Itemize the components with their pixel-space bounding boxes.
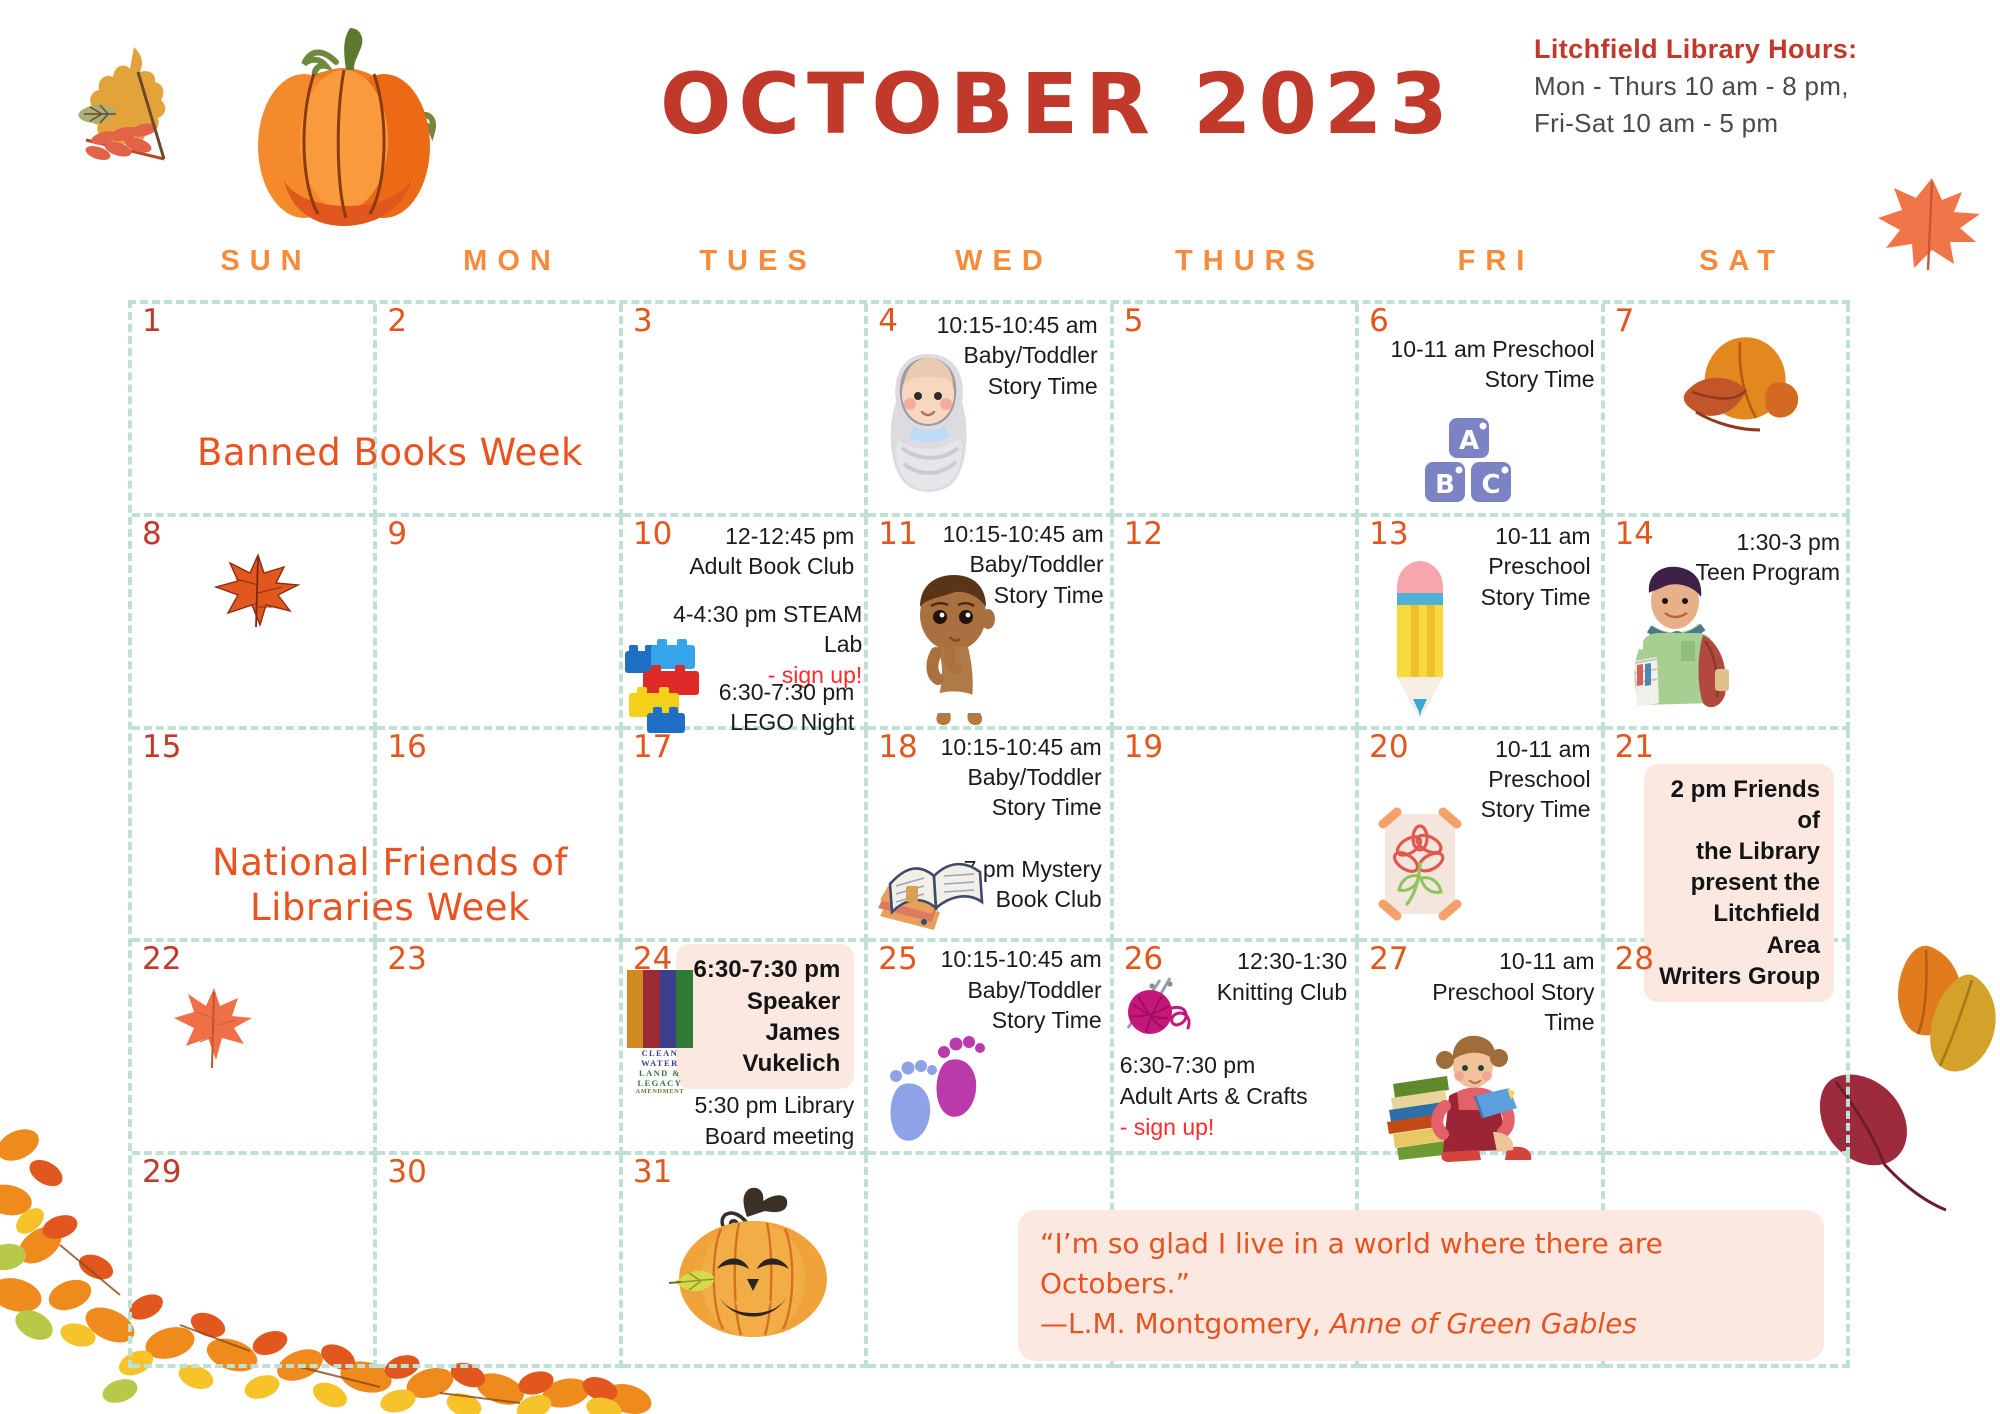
quote-author: —L.M. Montgomery, <box>1040 1307 1330 1340</box>
sign-up-link[interactable]: - sign up! <box>1120 1114 1215 1140</box>
day-number: 28 <box>1615 944 1654 975</box>
page-title: OCTOBER 2023 <box>660 55 1420 153</box>
quote-book-title: Anne of Green Gables <box>1330 1307 1637 1340</box>
library-hours-line-1: Mon - Thurs 10 am - 8 pm, <box>1534 68 1954 105</box>
day-cell-15[interactable]: 15 <box>132 730 377 943</box>
big-pumpkin-icon <box>218 14 468 234</box>
event-line: 10:15-10:45 am <box>903 310 1098 340</box>
day-cell-4[interactable]: 4 10:15-10:45 am Baby/Toddler Story Time <box>868 304 1113 517</box>
day-number: 3 <box>633 306 653 337</box>
baby-footprints-icon <box>886 1036 996 1154</box>
day-cell-23[interactable]: 23 <box>377 942 622 1155</box>
autumn-leaf-icon <box>1660 330 1810 450</box>
day-cell-3[interactable]: 3 <box>623 304 868 517</box>
day-cell-31[interactable]: 31 <box>623 1155 868 1368</box>
event-line: Preschool Story <box>1395 977 1595 1007</box>
day-number: 21 <box>1615 732 1654 763</box>
highlight-line: 2 pm Friends of <box>1658 774 1820 836</box>
yarn-knitting-icon <box>1118 966 1204 1046</box>
day-cell-1[interactable]: 1 <box>132 304 377 517</box>
day-number: 14 <box>1615 519 1654 550</box>
day-cell-29[interactable]: 29 <box>132 1155 377 1368</box>
day-cell-2[interactable]: 2 <box>377 304 622 517</box>
highlight-line: the Library <box>1658 836 1820 867</box>
day-number: 20 <box>1369 732 1408 763</box>
event-line: - sign up! <box>1120 1112 1336 1143</box>
event-text: 10:15-10:45 am Baby/Toddler Story Time <box>906 944 1102 1035</box>
day-number: 9 <box>387 519 407 550</box>
day-number: 30 <box>387 1157 426 1188</box>
girl-reading-books-icon <box>1387 1032 1535 1162</box>
day-number: 2 <box>387 306 407 337</box>
library-hours-line-2: Fri-Sat 10 am - 5 pm <box>1534 105 1954 142</box>
swaddled-baby-icon <box>880 344 976 492</box>
day-cell-16[interactable]: 16 <box>377 730 622 943</box>
day-cell-17[interactable]: 17 <box>623 730 868 943</box>
event-line: 10-11 am Preschool <box>1373 334 1595 364</box>
highlight-line: Speaker <box>690 986 840 1017</box>
weekday-header-row: SUN MON TUES WED THURS FRI SAT <box>128 245 1850 293</box>
day-number: 16 <box>387 732 426 763</box>
day-number: 12 <box>1124 519 1163 550</box>
event-line: Story Time <box>906 1005 1102 1035</box>
orange-maple-leaf-icon <box>1870 168 1990 278</box>
weekday-sun: SUN <box>128 245 374 293</box>
event-line: 6:30-7:30 pm <box>1120 1050 1336 1081</box>
day-cell-13[interactable]: 13 10-11 am Preschool Story Time <box>1359 517 1604 730</box>
day-cell-24[interactable]: 24 6:30-7:30 pm Speaker James Vukelich 5… <box>623 942 868 1155</box>
event-text: 10-11 am Preschool Story Time <box>1395 946 1595 1037</box>
day-cell-14[interactable]: 14 1:30-3 pm Teen Program <box>1605 517 1850 730</box>
highlight-box-speaker: 6:30-7:30 pm Speaker James Vukelich <box>676 944 854 1089</box>
teen-student-icon <box>1619 565 1739 715</box>
orange-maple-leaf-icon <box>170 984 254 1074</box>
day-cell-27[interactable]: 27 10-11 am Preschool Story Time <box>1359 942 1604 1155</box>
open-book-stack-icon <box>876 842 996 942</box>
day-cell-21[interactable]: 21 2 pm Friends of the Library present t… <box>1605 730 1850 943</box>
day-number: 4 <box>878 306 898 337</box>
svg-text:B: B <box>1435 470 1455 500</box>
event-line: 10-11 am <box>1451 734 1591 764</box>
jack-o-lantern-icon <box>661 1183 847 1343</box>
event-line: 10:15-10:45 am <box>906 732 1102 762</box>
event-line: 5:30 pm Library <box>669 1090 854 1120</box>
quote-box: “I’m so glad I live in a world where the… <box>1018 1210 1824 1361</box>
highlight-line: James Vukelich <box>690 1017 840 1079</box>
day-cell-5[interactable]: 5 <box>1114 304 1359 517</box>
event-line: Story Time <box>1373 364 1595 394</box>
event-line: Story Time <box>1451 794 1591 824</box>
event-line: Story Time <box>906 792 1102 822</box>
logo-text: CLEAN WATER LAND & LEGACY AMENDMENT <box>627 1048 693 1096</box>
weekday-fri: FRI <box>1358 245 1604 293</box>
day-cell-25[interactable]: 25 10:15-10:45 am Baby/Toddler Story Tim… <box>868 942 1113 1155</box>
event-text-arts-crafts: 6:30-7:30 pm Adult Arts & Crafts - sign … <box>1120 1050 1336 1142</box>
highlight-line: 6:30-7:30 pm <box>690 954 840 985</box>
event-text: 10:15-10:45 am Baby/Toddler Story Time <box>906 732 1102 823</box>
event-line: Baby/Toddler <box>906 975 1102 1005</box>
day-cell-20[interactable]: 20 10-11 am Preschool Story Time <box>1359 730 1604 943</box>
weekday-tues: TUES <box>620 245 866 293</box>
day-number: 6 <box>1369 306 1389 337</box>
day-cell-30[interactable]: 30 <box>377 1155 622 1368</box>
abc-blocks-icon: A B C <box>1421 416 1517 510</box>
event-line: 12-12:45 pm <box>664 521 854 551</box>
day-cell-18[interactable]: 18 10:15-10:45 am Baby/Toddler Story Tim… <box>868 730 1113 943</box>
oak-and-sumac-leaves-icon <box>46 22 196 197</box>
weekday-wed: WED <box>866 245 1112 293</box>
day-number: 13 <box>1369 519 1408 550</box>
day-number: 15 <box>142 732 181 763</box>
event-text: 10-11 am Preschool Story Time <box>1373 334 1595 395</box>
logo-color-bars <box>627 970 693 1048</box>
day-cell-6[interactable]: 6 10-11 am Preschool Story Time A B C <box>1359 304 1604 517</box>
svg-text:C: C <box>1482 470 1501 500</box>
event-line: Board meeting <box>669 1121 854 1151</box>
event-text: 10-11 am Preschool Story Time <box>1451 521 1591 612</box>
day-number: 5 <box>1124 306 1144 337</box>
flower-frame-icon <box>1373 806 1467 922</box>
weekday-thurs: THURS <box>1112 245 1358 293</box>
event-line: 10:15-10:45 am <box>908 519 1104 549</box>
event-line: Adult Arts & Crafts <box>1120 1081 1336 1112</box>
quote-attribution: —L.M. Montgomery, Anne of Green Gables <box>1040 1304 1802 1344</box>
event-line: 10-11 am <box>1395 946 1595 976</box>
event-text-board-meeting: 5:30 pm Library Board meeting <box>669 1090 854 1151</box>
event-line: 1:30-3 pm <box>1670 527 1840 557</box>
day-number: 23 <box>387 944 426 975</box>
day-cell-19[interactable]: 19 <box>1114 730 1359 943</box>
pencil-icon <box>1391 559 1449 719</box>
day-cell-26[interactable]: 26 12:30-1:30 Knitting Club 6:30-7:30 pm… <box>1114 942 1359 1155</box>
day-cell-10[interactable]: 10 12-12:45 pm Adult Book Club 4-4:30 pm… <box>623 517 868 730</box>
event-line: Preschool <box>1451 764 1591 794</box>
event-line: Preschool <box>1451 551 1591 581</box>
event-text: 12-12:45 pm Adult Book Club <box>664 521 854 582</box>
event-line: Baby/Toddler <box>906 762 1102 792</box>
event-line: Adult Book Club <box>664 551 854 581</box>
day-number: 17 <box>633 732 672 763</box>
day-number: 8 <box>142 519 162 550</box>
day-number: 7 <box>1615 306 1635 337</box>
event-line: 10:15-10:45 am <box>906 944 1102 974</box>
day-cell-7[interactable]: 7 <box>1605 304 1850 517</box>
highlight-line: present the <box>1658 867 1820 898</box>
day-cell-22[interactable]: 22 <box>132 942 377 1155</box>
day-cell-8[interactable]: 8 <box>132 517 377 730</box>
day-number: 19 <box>1124 732 1163 763</box>
quote-text: “I’m so glad I live in a world where the… <box>1040 1224 1802 1304</box>
svg-text:A: A <box>1459 426 1479 456</box>
day-cell-9[interactable]: 9 <box>377 517 622 730</box>
library-hours: Litchfield Library Hours: Mon - Thurs 10… <box>1534 30 1954 142</box>
day-number: 1 <box>142 306 162 337</box>
day-cell-28[interactable]: 28 <box>1605 942 1850 1155</box>
day-number: 22 <box>142 944 181 975</box>
event-line: 10-11 am <box>1451 521 1591 551</box>
event-text: 10-11 am Preschool Story Time <box>1451 734 1591 825</box>
day-cell-11[interactable]: 11 10:15-10:45 am Baby/Toddler Story Tim… <box>868 517 1113 730</box>
weekday-mon: MON <box>374 245 620 293</box>
event-line: Story Time <box>1451 582 1591 612</box>
day-cell-12[interactable]: 12 <box>1114 517 1359 730</box>
toddler-icon <box>898 573 1008 727</box>
weekday-sat: SAT <box>1604 245 1850 293</box>
lego-bricks-icon <box>625 635 737 735</box>
calendar-grid: 1 2 3 4 10:15-10:45 am Baby/Toddler Stor… <box>128 300 1850 1368</box>
red-maple-leaf-icon <box>210 549 302 633</box>
clean-water-land-legacy-logo: CLEAN WATER LAND & LEGACY AMENDMENT <box>627 970 693 1096</box>
day-number: 29 <box>142 1157 181 1188</box>
library-hours-title: Litchfield Library Hours: <box>1534 30 1954 68</box>
